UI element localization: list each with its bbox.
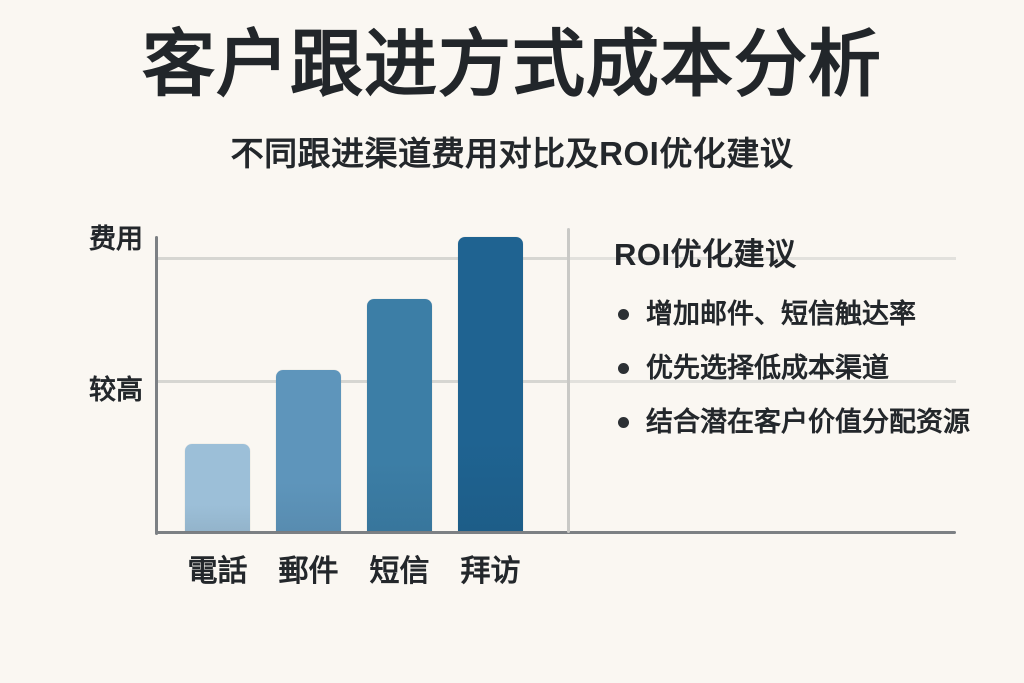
roi-bullet-list: 增加邮件、短信触达率优先选择低成本渠道结合潜在客户价值分配资源	[612, 296, 1004, 440]
y-axis-label-middle: 较高	[89, 375, 143, 405]
bar-label-短信: 短信	[351, 554, 448, 590]
roi-recommendations-panel: ROI优化建议 增加邮件、短信触达率优先选择低成本渠道结合潜在客户价值分配资源	[612, 236, 1004, 458]
bar-郵件[interactable]	[276, 370, 341, 531]
y-axis-label-top: 费用	[89, 224, 143, 254]
panel-divider	[567, 228, 570, 533]
roi-bullet-item: 优先选择低成本渠道	[612, 350, 1004, 386]
roi-bullet-text: 增加邮件、短信触达率	[646, 299, 916, 329]
roi-panel-heading: ROI优化建议	[614, 236, 1004, 274]
roi-bullet-item: 结合潜在客户价值分配资源	[612, 404, 1004, 440]
bar-短信[interactable]	[367, 299, 432, 531]
y-axis-line	[155, 236, 158, 535]
roi-bullet-text: 结合潜在客户价值分配资源	[646, 407, 970, 437]
roi-bullet-item: 增加邮件、短信触达率	[612, 296, 1004, 332]
roi-bullet-text: 优先选择低成本渠道	[646, 353, 889, 383]
bar-拜访[interactable]	[458, 237, 523, 531]
bullet-dot-icon	[618, 309, 629, 320]
bullet-dot-icon	[618, 417, 629, 428]
slide-canvas: 客户跟进方式成本分析 不同跟进渠道费用对比及ROI优化建议 费用 较高 電話郵件…	[0, 0, 1024, 683]
x-axis-line	[155, 531, 956, 534]
bar-label-郵件: 郵件	[260, 554, 357, 590]
bullet-dot-icon	[618, 363, 629, 374]
bar-label-拜访: 拜访	[442, 554, 539, 590]
bar-電話[interactable]	[185, 444, 250, 531]
bar-label-電話: 電話	[169, 554, 266, 590]
